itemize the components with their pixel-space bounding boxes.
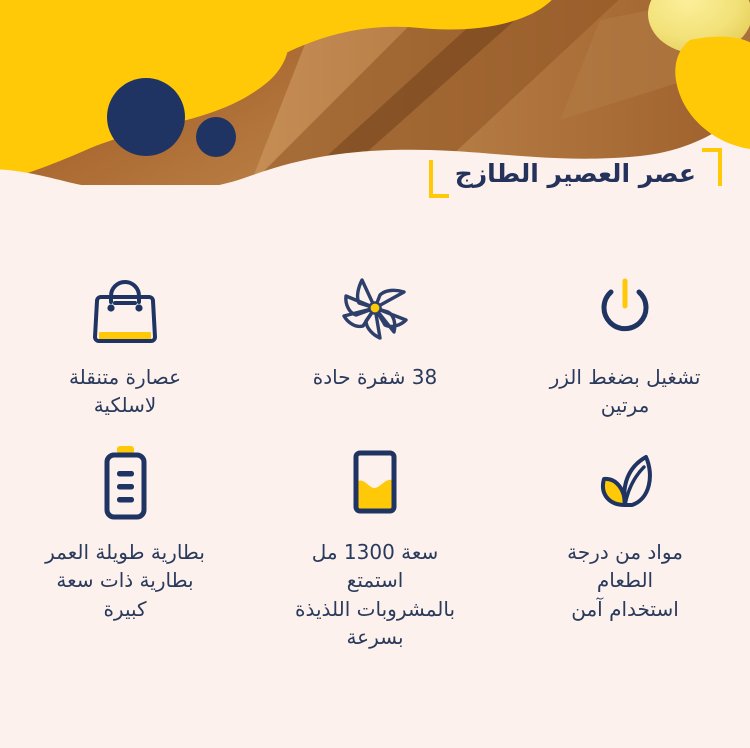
feature-item-capacity-1300ml: سعة 1300 مل استمتع بالمشروبات اللذيذة بس… xyxy=(250,440,500,652)
leaf-icon xyxy=(584,440,666,526)
feature-label: عصارة متنقلة لاسلكية xyxy=(69,363,181,420)
feature-row: بطارية طويلة العمر بطارية ذات سعة كبيرة xyxy=(0,440,750,652)
feature-label: مواد من درجة الطعام استخدام آمن xyxy=(567,538,683,623)
bracket-right-icon xyxy=(702,148,722,186)
handbag-icon xyxy=(86,265,164,351)
bracket-left-icon xyxy=(429,160,449,198)
feature-row: عصارة متنقلة لاسلكية xyxy=(0,265,750,420)
navy-circle-small xyxy=(196,117,236,157)
feature-item-double-press-start: تشغيل بضغط الزر مرتين xyxy=(500,265,750,420)
juice-glass-icon xyxy=(343,440,407,526)
blade-propeller-icon xyxy=(332,265,418,351)
feature-item-long-life-battery: بطارية طويلة العمر بطارية ذات سعة كبيرة xyxy=(0,440,250,652)
feature-label: 38 شفرة حادة xyxy=(313,363,437,391)
page-title: عصر العصير الطازج xyxy=(429,142,722,204)
feature-label: بطارية طويلة العمر بطارية ذات سعة كبيرة xyxy=(45,538,205,623)
promo-page: عصر العصير الطازج عصارة متنقلة لاسلكية xyxy=(0,0,750,748)
feature-grid: عصارة متنقلة لاسلكية xyxy=(0,265,750,651)
feature-label: تشغيل بضغط الزر مرتين xyxy=(550,363,701,420)
battery-icon xyxy=(93,440,157,526)
feature-item-sharp-blades: 38 شفرة حادة xyxy=(250,265,500,420)
feature-item-food-grade-material: مواد من درجة الطعام استخدام آمن xyxy=(500,440,750,652)
navy-circle-large xyxy=(107,78,185,156)
power-button-icon xyxy=(587,265,663,351)
page-title-text: عصر العصير الطازج xyxy=(449,161,702,186)
feature-item-portable-juicer: عصارة متنقلة لاسلكية xyxy=(0,265,250,420)
feature-label: سعة 1300 مل استمتع بالمشروبات اللذيذة بس… xyxy=(295,538,455,652)
